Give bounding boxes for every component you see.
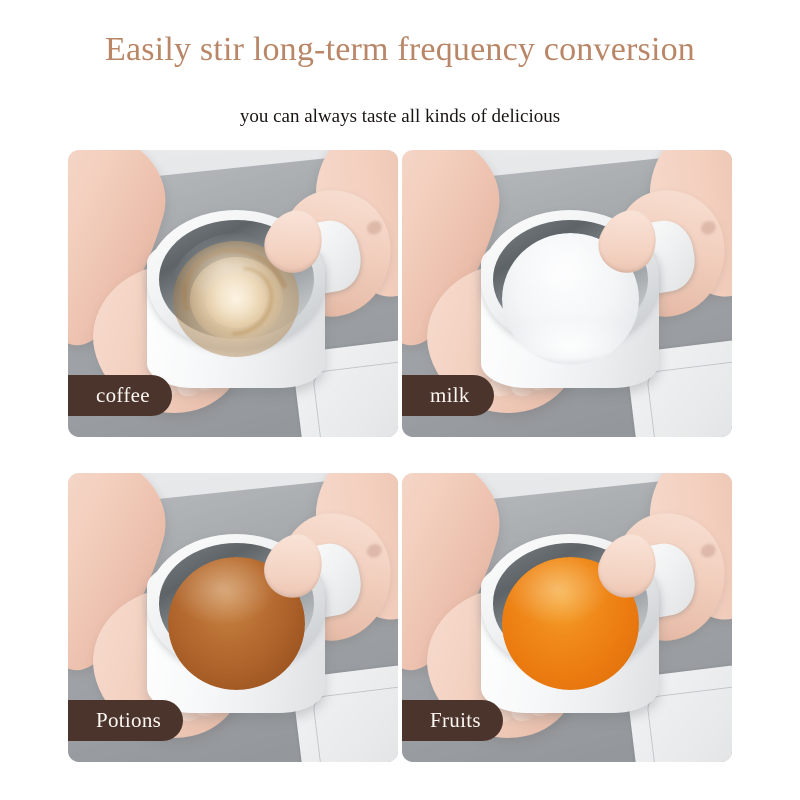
beverage-card-milk[interactable]: milk <box>402 150 732 437</box>
badge-coffee: coffee <box>68 375 172 416</box>
knuckle-shadow <box>365 542 384 560</box>
beverage-card-grid: coffee <box>68 150 732 762</box>
badge-potions: Potions <box>68 700 183 741</box>
beverage-card-potions[interactable]: Potions <box>68 473 398 762</box>
page-subheadline: you can always taste all kinds of delici… <box>0 104 800 130</box>
knuckle-shadow <box>699 542 718 560</box>
knuckle-shadow <box>365 219 384 237</box>
badge-fruits: Fruits <box>402 700 503 741</box>
beverage-card-fruits[interactable]: Fruits <box>402 473 732 762</box>
badge-milk: milk <box>402 375 494 416</box>
page-headline: Easily stir long-term frequency conversi… <box>0 29 800 71</box>
knuckle-shadow <box>699 219 718 237</box>
beverage-card-coffee[interactable]: coffee <box>68 150 398 437</box>
